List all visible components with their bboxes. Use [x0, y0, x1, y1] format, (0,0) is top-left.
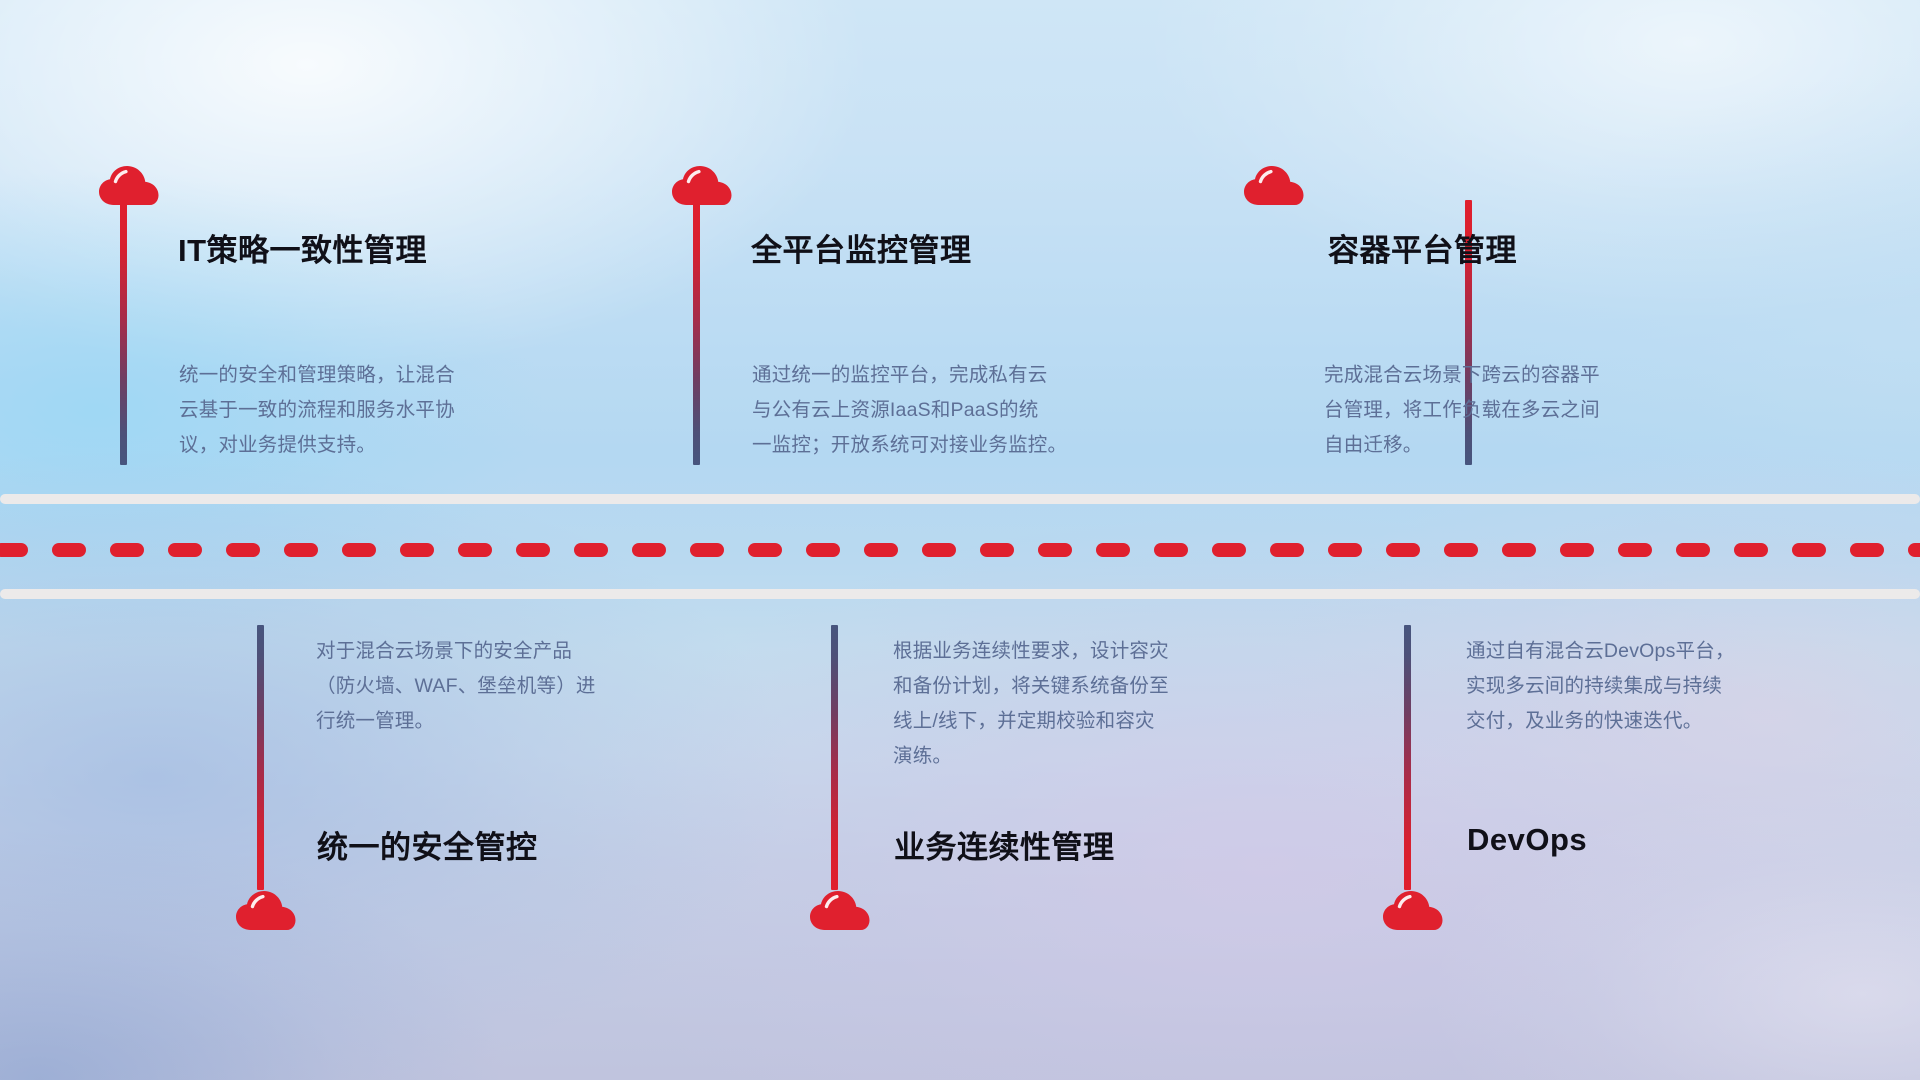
- divider-dash: [1096, 543, 1130, 557]
- node-description: 完成混合云场景下跨云的容器平 台管理，将工作负载在多云之间 自由迁移。: [1324, 358, 1764, 463]
- cloud-icon: [235, 885, 297, 931]
- node-description: 通过自有混合云DevOps平台， 实现多云间的持续集成与持续 交付，及业务的快速…: [1466, 634, 1916, 739]
- divider-dash: [1676, 543, 1710, 557]
- divider-dash: [458, 543, 492, 557]
- node-title: 全平台监控管理: [751, 225, 972, 270]
- divider-dash: [1502, 543, 1536, 557]
- divider-dash: [1154, 543, 1188, 557]
- divider-dash: [400, 543, 434, 557]
- node-description: 统一的安全和管理策略，让混合 云基于一致的流程和服务水平协 议，对业务提供支持。: [179, 358, 619, 463]
- divider-dash: [1792, 543, 1826, 557]
- node-stem: [831, 625, 838, 890]
- cloud-icon: [809, 885, 871, 931]
- divider-dash: [632, 543, 666, 557]
- divider-dash: [1850, 543, 1884, 557]
- divider-dash: [1212, 543, 1246, 557]
- node-title: 容器平台管理: [1328, 225, 1517, 270]
- node-title: 业务连续性管理: [894, 822, 1115, 867]
- divider-dash: [1038, 543, 1072, 557]
- divider-dash: [748, 543, 782, 557]
- divider-dash: [806, 543, 840, 557]
- divider-dash: [168, 543, 202, 557]
- node-title: IT策略一致性管理: [178, 225, 427, 270]
- divider-dash: [0, 543, 28, 557]
- divider-dash: [864, 543, 898, 557]
- cloud-icon: [98, 160, 160, 206]
- divider-dash: [922, 543, 956, 557]
- node-title: DevOps: [1467, 822, 1587, 858]
- divider-dash: [690, 543, 724, 557]
- cloud-icon: [1382, 885, 1444, 931]
- divider-dash: [284, 543, 318, 557]
- divider-dash: [980, 543, 1014, 557]
- divider-dash: [1908, 543, 1920, 557]
- node-stem: [693, 200, 700, 465]
- divider-dash: [110, 543, 144, 557]
- node-stem: [1404, 625, 1411, 890]
- divider-dash: [516, 543, 550, 557]
- node-description: 对于混合云场景下的安全产品 （防火墙、WAF、堡垒机等）进 行统一管理。: [316, 634, 756, 739]
- divider-dash: [52, 543, 86, 557]
- node-description: 通过统一的监控平台，完成私有云 与公有云上资源IaaS和PaaS的统 一监控；开…: [752, 358, 1202, 463]
- infographic-canvas: IT策略一致性管理 统一的安全和管理策略，让混合 云基于一致的流程和服务水平协 …: [0, 0, 1920, 1080]
- node-title: 统一的安全管控: [317, 822, 538, 867]
- cloud-icon: [671, 160, 733, 206]
- divider-dash: [1386, 543, 1420, 557]
- divider-rule-top: [0, 494, 1920, 504]
- divider-dash: [1270, 543, 1304, 557]
- divider-dash: [1560, 543, 1594, 557]
- cloud-icon: [1243, 160, 1305, 206]
- node-stem: [120, 200, 127, 465]
- divider-dashed-line: [0, 543, 1920, 557]
- divider-dash: [1444, 543, 1478, 557]
- divider-dash: [226, 543, 260, 557]
- divider-dash: [1328, 543, 1362, 557]
- divider-dash: [574, 543, 608, 557]
- divider-dash: [1734, 543, 1768, 557]
- divider-rule-bottom: [0, 589, 1920, 599]
- divider-dash: [342, 543, 376, 557]
- divider-dash: [1618, 543, 1652, 557]
- node-stem: [257, 625, 264, 890]
- node-description: 根据业务连续性要求，设计容灾 和备份计划，将关键系统备份至 线上/线下，并定期校…: [893, 634, 1343, 774]
